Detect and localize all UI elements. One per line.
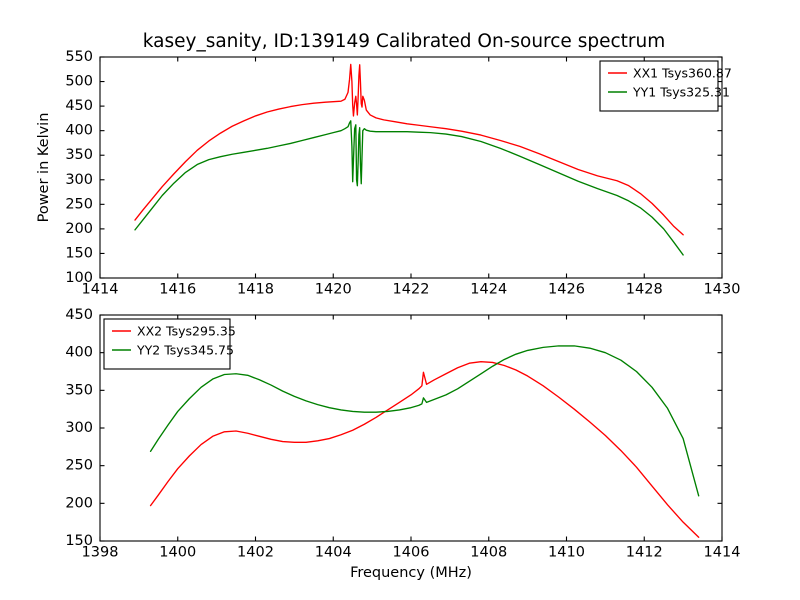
bottom-ytick-label: 300	[65, 420, 93, 436]
bottom-legend-label-1: YY2 Tsys345.75	[136, 343, 234, 358]
top-ytick-label: 300	[65, 172, 93, 188]
top-xtick-label: 1418	[237, 282, 274, 298]
bottom-xtick-label: 1402	[237, 545, 274, 561]
top-xtick-label: 1430	[704, 282, 741, 298]
top-ytick-label: 250	[65, 196, 93, 212]
top-xtick-label: 1422	[393, 282, 430, 298]
bottom-ytick-label: 250	[65, 458, 93, 474]
bottom-ytick-label: 450	[65, 307, 93, 323]
top-ytick-label: 350	[65, 147, 93, 163]
top-ytick-label: 400	[65, 123, 93, 139]
top-ytick-label: 550	[65, 49, 93, 65]
top-ytick-label: 150	[65, 245, 93, 261]
bottom-ytick-label: 150	[65, 533, 93, 549]
bottom-xtick-label: 1408	[470, 545, 507, 561]
top-legend-label-0: XX1 Tsys360.87	[633, 66, 732, 81]
top-xtick-label: 1428	[626, 282, 663, 298]
bottom-ytick-label: 400	[65, 345, 93, 361]
page-title: kasey_sanity, ID:139149 Calibrated On-so…	[143, 31, 665, 52]
bottom-xtick-label: 1414	[704, 545, 741, 561]
bottom-xtick-label: 1412	[626, 545, 663, 561]
bottom-ytick-label: 350	[65, 382, 93, 398]
top-xtick-label: 1416	[159, 282, 196, 298]
top-legend-label-1: YY1 Tsys325.31	[632, 85, 730, 100]
bottom-xtick-label: 1400	[159, 545, 196, 561]
bottom-legend: XX2 Tsys295.35YY2 Tsys345.75	[104, 319, 236, 369]
bottom-x-axis-label: Frequency (MHz)	[350, 565, 472, 581]
top-y-axis-label: Power in Kelvin	[36, 113, 52, 223]
figure-canvas: kasey_sanity, ID:139149 Calibrated On-so…	[0, 0, 800, 600]
bottom-legend-label-0: XX2 Tsys295.35	[137, 324, 236, 339]
top-ytick-label: 450	[65, 98, 93, 114]
top-ytick-label: 500	[65, 74, 93, 90]
top-legend: XX1 Tsys360.87YY1 Tsys325.31	[600, 61, 732, 111]
top-xtick-label: 1424	[470, 282, 507, 298]
bottom-xtick-label: 1404	[315, 545, 352, 561]
matplotlib-figure: kasey_sanity, ID:139149 Calibrated On-so…	[0, 0, 800, 600]
top-ytick-label: 200	[65, 221, 93, 237]
bottom-ytick-label: 200	[65, 495, 93, 511]
top-xtick-label: 1420	[315, 282, 352, 298]
bottom-xtick-label: 1406	[393, 545, 430, 561]
top-ytick-label: 100	[65, 270, 93, 286]
top-xtick-label: 1426	[548, 282, 585, 298]
bottom-xtick-label: 1410	[548, 545, 585, 561]
